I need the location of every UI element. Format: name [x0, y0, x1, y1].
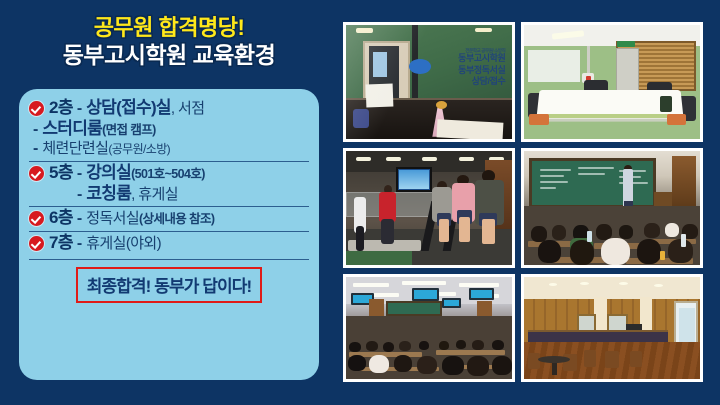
photo-grid: 전문학교 공무원/ 소방직 동부고시학원 동부정독서실 상담/접수 [343, 22, 703, 382]
facility-info-card: 2층 - 상담(접수)실 , 서점 - 스터디룸 (면접 캠프) - 체련단련실… [19, 89, 319, 380]
floor-group-5: 5층 - 강의실 (501호~504호) - 코칭룸 , 휴게실 [29, 161, 309, 206]
floor-row: - 체련단련실 (공무원/소방) [29, 139, 309, 159]
check-circle-icon [29, 101, 44, 116]
photo-cell-reception: 전문학교 공무원/ 소방직 동부고시학원 동부정독서실 상담/접수 [343, 22, 515, 142]
cta-section: 최종합격! 동부가 답이다! [29, 259, 309, 303]
student-head [619, 225, 633, 239]
student-head [644, 223, 660, 238]
student-head [472, 340, 484, 350]
poster-root: 공무원 합격명당! 동부고시학원 교육환경 2층 - 상담(접수)실 , 서점 … [0, 0, 720, 405]
person-legs [482, 219, 495, 244]
round-table [538, 356, 570, 363]
floor-item-normal: 체련단련실 [42, 140, 108, 158]
lounge-chair [605, 351, 619, 367]
student-head [637, 239, 662, 264]
photo-cell-gym [343, 148, 515, 268]
student-head [399, 341, 411, 351]
floor-item-strong: 스터디룸 [42, 119, 102, 140]
photo-cell-classroom [521, 148, 703, 268]
fitness-gym-photo [346, 151, 512, 265]
large-study-hall-photo [346, 277, 512, 379]
lounge-chair [630, 351, 642, 366]
hall-television [469, 288, 494, 300]
chalkboard [529, 158, 656, 208]
student-head [349, 342, 361, 352]
projection-screen [528, 50, 581, 82]
floor-label: 2층 [49, 98, 73, 119]
ceiling-light [386, 157, 401, 162]
dash-separator: - [29, 120, 42, 140]
student-head [383, 342, 395, 352]
floor-row: 6층 - 정독서실 (상세내용 참조) [29, 208, 309, 229]
chalk-writing [540, 187, 557, 189]
person-legs [459, 217, 471, 242]
photo-cell-lounge [521, 274, 703, 382]
floor-label: 5층 [49, 163, 73, 184]
ceiling-light [356, 157, 371, 162]
door-glass-panel [679, 308, 695, 345]
lecture-classroom-photo [524, 151, 700, 265]
exit-sign [617, 41, 635, 47]
floor-label: 7층 [49, 233, 73, 254]
dash-separator: - [73, 185, 86, 205]
title-line-2: 동부고시학원 교육환경 [0, 44, 338, 67]
table-edge [538, 114, 682, 119]
floor-group-2: 2층 - 상담(접수)실 , 서점 - 스터디룸 (면접 캠프) - 체련단련실… [29, 97, 309, 161]
student-head [439, 341, 449, 350]
floor-item-note: (501호~504호) [131, 167, 205, 182]
student-head [492, 356, 512, 375]
person-red-shirt [379, 192, 396, 222]
lounge-chair [584, 350, 596, 366]
student-head [366, 341, 378, 351]
water-bottle [681, 234, 686, 247]
floor-item-normal: 정독서실 [86, 210, 139, 228]
dash-separator: - [73, 164, 86, 184]
student-head [467, 356, 489, 376]
dash-separator: - [73, 234, 86, 254]
floor-item-normal: , 서점 [171, 100, 205, 118]
student-head [538, 240, 561, 263]
floor-row: 2층 - 상담(접수)실 , 서점 [29, 98, 309, 119]
student-head [348, 355, 366, 371]
study-desk-row [436, 350, 506, 354]
reception-counter-photo: 전문학교 공무원/ 소방직 동부고시학원 동부정독서실 상담/접수 [346, 25, 512, 139]
green-floor-mat [346, 251, 412, 265]
water-bottle [587, 231, 591, 242]
dash-separator: - [73, 209, 86, 229]
chalk-writing [578, 173, 605, 175]
student-head [417, 356, 437, 374]
ceiling-light [422, 157, 437, 162]
student-head [552, 225, 566, 240]
table-container [660, 96, 672, 112]
floor-item-note: (상세내용 참조) [139, 212, 214, 227]
chalk-writing [540, 169, 571, 171]
floor-item-note: (면접 캠프) [102, 123, 156, 138]
photo-cell-study-hall [343, 274, 515, 382]
television-screen [399, 170, 429, 188]
pendant-cord [587, 46, 590, 76]
student-head [419, 341, 429, 350]
floor-label: 6층 [49, 208, 73, 229]
hall-television [442, 298, 460, 307]
floor-group-7: 7층 - 휴게실(야외) [29, 231, 309, 256]
floor-item-normal: , 휴게실 [131, 186, 178, 204]
floor-row: - 스터디룸 (면접 캠프) [29, 119, 309, 140]
orange-seat [667, 114, 686, 125]
fluorescent-light [353, 283, 390, 287]
person-legs [356, 226, 364, 251]
left-content-column: 공무원 합격명당! 동부고시학원 교육환경 2층 - 상담(접수)실 , 서점 … [0, 0, 338, 405]
student-head [456, 340, 466, 349]
table-leg [552, 361, 556, 375]
chalk-writing [540, 181, 569, 183]
lounge-rest-area-photo [524, 277, 700, 379]
poster-title-block: 공무원 합격명당! 동부고시학원 교육환경 [0, 17, 338, 67]
student-head [394, 355, 412, 372]
check-circle-icon [29, 211, 44, 226]
check-circle-icon [29, 166, 44, 181]
person-legs [439, 219, 449, 242]
floor-item-strong: 상담(접수)실 [86, 98, 171, 119]
student-head [665, 223, 679, 237]
cta-text: 최종합격! 동부가 답이다! [87, 277, 252, 296]
ceiling-light [459, 157, 474, 162]
floor-row: 5층 - 강의실 (501호~504호) [29, 163, 309, 184]
floor-item-note: (공무원/소방) [108, 142, 170, 157]
floor-row: - 코칭룸 , 휴게실 [29, 184, 309, 205]
meeting-room-photo [524, 25, 700, 139]
dash-separator: - [73, 99, 86, 119]
student-head [369, 355, 389, 373]
fluorescent-light [459, 283, 499, 287]
wood-wall-panel [672, 156, 697, 208]
student-head [601, 238, 629, 265]
glass-glare [346, 25, 512, 139]
lounge-ceiling [524, 277, 700, 299]
floor-item-normal: 휴게실(야외) [86, 235, 161, 253]
floor-item-strong: 코칭룸 [86, 184, 131, 205]
drink-cup [660, 251, 665, 260]
person-legs [381, 219, 394, 244]
floor-item-strong: 강의실 [86, 163, 131, 184]
photo-cell-meeting-room [521, 22, 703, 142]
dash-separator: - [29, 139, 42, 159]
orange-seat [529, 114, 548, 125]
door [616, 48, 639, 96]
floor-row: 7층 - 휴게실(야외) [29, 233, 309, 254]
student-head [492, 340, 504, 350]
fluorescent-light [402, 281, 445, 285]
chalk-writing [578, 167, 614, 169]
chalk-writing [540, 175, 564, 177]
check-circle-icon [29, 236, 44, 251]
cta-box: 최종합격! 동부가 답이다! [76, 267, 263, 303]
student-head [570, 240, 595, 265]
hall-television [412, 288, 439, 301]
chalkboard [386, 301, 442, 315]
title-line-1: 공무원 합격명당! [0, 17, 338, 39]
student-head [442, 356, 464, 375]
floor-group-6: 6층 - 정독서실 (상세내용 참조) [29, 206, 309, 231]
